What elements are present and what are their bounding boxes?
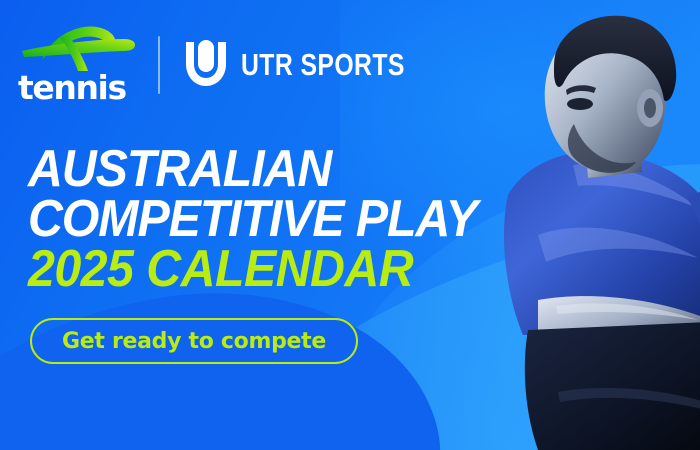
logo-bar: tennis UTR SPORTS	[18, 22, 446, 104]
headline-line-3: 2025 CALENDAR	[28, 246, 477, 294]
headline: AUSTRALIAN COMPETITIVE PLAY 2025 CALENDA…	[28, 146, 511, 293]
get-ready-to-compete-button[interactable]: Get ready to compete	[30, 318, 358, 364]
headline-line-2: COMPETITIVE PLAY	[28, 196, 477, 244]
utr-sports-logo[interactable]: UTR SPORTS	[182, 38, 446, 90]
logo-divider	[158, 36, 160, 94]
headline-line-1: AUSTRALIAN	[28, 146, 477, 194]
promo-banner: tennis UTR SPORTS AUSTRALIAN COMPETITIVE…	[0, 0, 700, 450]
utr-u-mark-icon	[182, 38, 230, 90]
utr-sports-wordmark: UTR SPORTS	[241, 49, 405, 80]
tennis-australia-logo[interactable]: tennis	[18, 23, 136, 103]
tennis-wordmark: tennis	[18, 71, 136, 104]
tennis-australia-swoosh-icon	[20, 23, 136, 71]
